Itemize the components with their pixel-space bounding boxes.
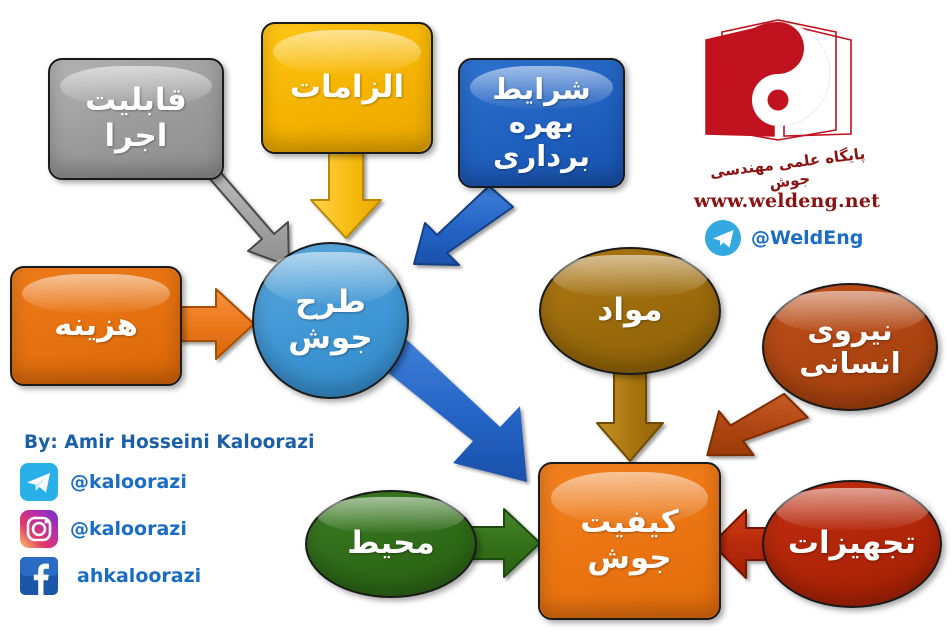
- logo-website-url[interactable]: www.weldeng.net: [692, 190, 882, 212]
- node-materials-label: مواد: [591, 293, 668, 329]
- credit-row-instagram[interactable]: @kaloorazi: [20, 509, 350, 549]
- arrow-requirements-to-design: [311, 152, 381, 238]
- node-equipment[interactable]: تجهیزات: [762, 480, 942, 608]
- node-manpower-label: نیروی انسانی: [764, 314, 936, 381]
- node-requirements-label: الزامات: [284, 70, 410, 106]
- node-feasibility[interactable]: قابلیت اجرا: [48, 58, 224, 180]
- node-weld-design[interactable]: طرح جوش: [252, 242, 409, 399]
- logo-telegram-row[interactable]: @WeldEng: [704, 219, 863, 257]
- node-weld-quality[interactable]: کیفیت جوش: [538, 462, 721, 620]
- telegram-icon: [20, 463, 58, 501]
- diagram-canvas: قابلیت اجرا الزامات شرایط بهره برداری هز…: [0, 0, 951, 641]
- node-manpower[interactable]: نیروی انسانی: [762, 283, 938, 411]
- node-cost-label: هزینه: [48, 308, 144, 344]
- credit-telegram-handle[interactable]: @kaloorazi: [70, 471, 187, 493]
- node-equipment-label: تجهیزات: [782, 526, 922, 562]
- facebook-icon: [20, 557, 58, 595]
- telegram-icon: [704, 219, 742, 257]
- weldeng-logo-icon: [696, 14, 861, 154]
- credit-row-telegram[interactable]: @kaloorazi: [20, 462, 350, 502]
- node-materials[interactable]: مواد: [539, 247, 721, 375]
- node-weld-quality-label: کیفیت جوش: [540, 505, 719, 576]
- arrow-design-to-quality: [381, 340, 527, 482]
- logo-telegram-handle[interactable]: @WeldEng: [751, 227, 863, 249]
- arrow-service-to-design: [414, 186, 513, 265]
- credits-block: By: Amir Hosseini Kaloorazi @kaloorazi: [20, 432, 350, 603]
- arrow-environment-to-quality: [470, 509, 540, 577]
- credit-instagram-handle[interactable]: @kaloorazi: [70, 518, 187, 540]
- node-requirements[interactable]: الزامات: [261, 22, 433, 154]
- credit-facebook-handle[interactable]: ahkaloorazi: [77, 565, 201, 587]
- node-environment-label: محیط: [341, 526, 440, 562]
- credit-author-name: By: Amir Hosseini Kaloorazi: [24, 432, 350, 453]
- arrow-cost-to-design: [180, 289, 254, 359]
- instagram-icon: [20, 510, 58, 548]
- arrow-manpower-to-quality: [707, 387, 810, 466]
- credit-row-facebook[interactable]: ahkaloorazi: [20, 556, 350, 596]
- node-service-conditions-label: شرایط بهره برداری: [460, 73, 623, 173]
- arrow-materials-to-quality: [597, 373, 663, 461]
- node-cost[interactable]: هزینه: [10, 266, 182, 386]
- node-feasibility-label: قابلیت اجرا: [50, 83, 222, 154]
- brand-logo-block: پایگاه علمی مهندسی جوش www.weldeng.net @…: [676, 14, 944, 244]
- node-service-conditions[interactable]: شرایط بهره برداری: [458, 58, 625, 188]
- node-weld-design-label: طرح جوش: [254, 285, 407, 356]
